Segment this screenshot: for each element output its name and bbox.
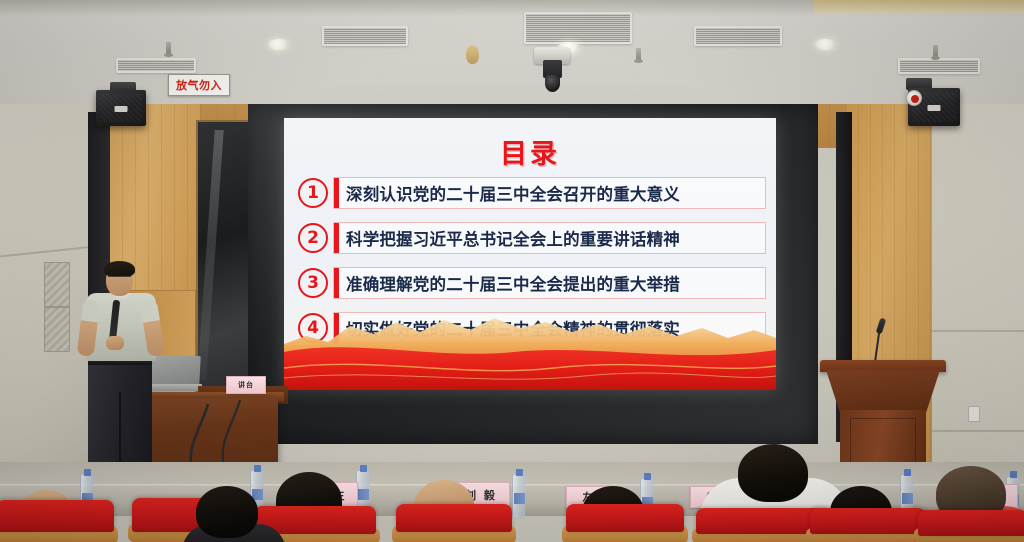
ac-vent-left [116,58,196,73]
ac-vent-center [524,12,632,44]
toc-number: 2 [298,223,328,253]
sprinkler-3 [933,45,938,57]
wall-right-seam-1 [932,330,1024,332]
speaker-brand-icon [115,106,128,112]
ceiling-cove-warm [814,0,1024,14]
presentation-slide: 目录 1 深刻认识党的二十届三中全会召开的重大意义 2 科学把握习近平总书记全会… [284,118,776,390]
sprinkler-1 [166,42,171,54]
slide-title: 目录 [284,132,776,171]
toc-body: 科学把握习近平总书记全会上的重要讲话精神 [333,222,766,254]
table-placard-small-label: 讲台 [238,380,254,390]
audience-chair[interactable] [810,508,926,534]
downlight-1 [268,39,289,50]
attendee-head [196,486,258,538]
wall-right-seam-2 [932,430,1024,432]
toc-accent-bar [334,178,339,208]
pendant-lamp [466,45,479,64]
toc-body: 准确理解党的二十届三中全会提出的重大举措 [333,267,766,299]
warning-sign-label: 放气勿入 [176,77,222,93]
ac-vent-right [898,58,980,74]
wall-right [932,104,1024,484]
sprinkler-2 [636,48,641,60]
toc-number: 1 [298,178,328,208]
audience-chair[interactable] [0,500,114,532]
power-outlet[interactable] [968,406,980,422]
wall-speaker-left [96,90,146,126]
toc-number: 3 [298,268,328,298]
toc-item: 1 深刻认识党的二十届三中全会召开的重大意义 [298,173,766,213]
downlight-3 [815,39,836,50]
lectern-body [826,370,940,412]
table-placard-small: 讲台 [226,376,266,394]
wall-stone-panel-seam [44,306,70,308]
toc-accent-bar [334,268,339,298]
audience-chair[interactable] [396,504,512,532]
presenter-hand [106,336,124,350]
slide-footer-decoration [284,312,776,390]
toc-body: 深刻认识党的二十届三中全会召开的重大意义 [333,177,766,209]
conference-room-scene: 放气勿入 目录 1 深刻认识党的二十届三中全会召开的重大意义 2 [0,0,1024,542]
presenter-glasses-icon [108,276,131,281]
toc-item: 3 准确理解党的二十届三中全会提出的重大举措 [298,263,766,303]
attendee-head [738,444,808,502]
ceiling [0,0,1024,108]
ac-vent-left-center [322,26,408,46]
slide-decoration-icon [284,312,776,390]
audience-chair[interactable] [918,510,1024,536]
toc-text: 准确理解党的二十届三中全会提出的重大举措 [346,271,680,295]
toc-text: 深刻认识党的二十届三中全会召开的重大意义 [346,181,680,205]
audience-chair[interactable] [566,504,684,532]
speaker-brand-icon-right [928,105,941,111]
ac-vent-right-center [694,26,782,46]
toc-item: 2 科学把握习近平总书记全会上的重要讲话精神 [298,218,766,258]
warning-sign: 放气勿入 [168,74,230,96]
presenter-hair [104,261,135,277]
alarm-indicator-icon [906,90,922,106]
water-bottle [512,474,525,518]
toc-text: 科学把握习近平总书记全会上的重要讲话精神 [346,226,680,250]
toc-accent-bar [334,223,339,253]
ceiling-camera-icon [545,75,560,92]
